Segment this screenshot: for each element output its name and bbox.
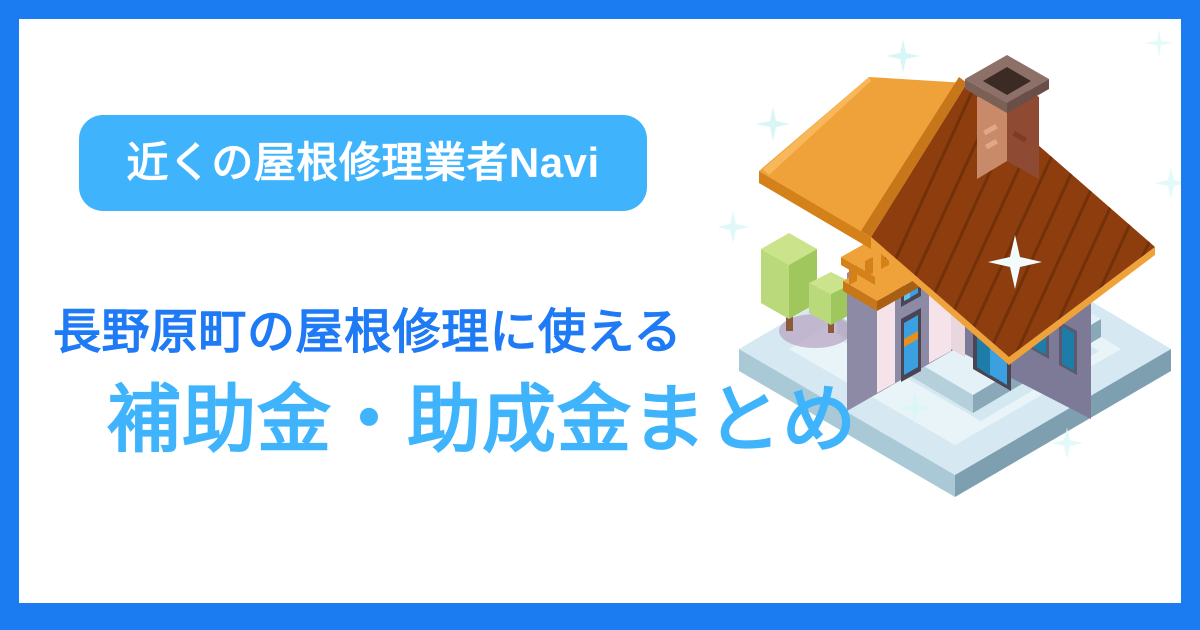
brand-badge: 近くの屋根修理業者Navi: [79, 115, 647, 211]
headline-line-2: 補助金・助成金まとめ: [35, 383, 935, 457]
headline-line-1: 長野原町の屋根修理に使える: [35, 309, 935, 357]
card-inner-canvas: 近くの屋根修理業者Navi 長野原町の屋根修理に使える 補助金・助成金まとめ: [19, 19, 1181, 603]
headline-block: 長野原町の屋根修理に使える 補助金・助成金まとめ: [35, 309, 935, 457]
chimney: [965, 55, 1049, 179]
brand-badge-label: 近くの屋根修理業者Navi: [126, 142, 599, 184]
isometric-house-illustration: [719, 19, 1181, 549]
ogp-card: 近くの屋根修理業者Navi 長野原町の屋根修理に使える 補助金・助成金まとめ: [0, 0, 1200, 630]
